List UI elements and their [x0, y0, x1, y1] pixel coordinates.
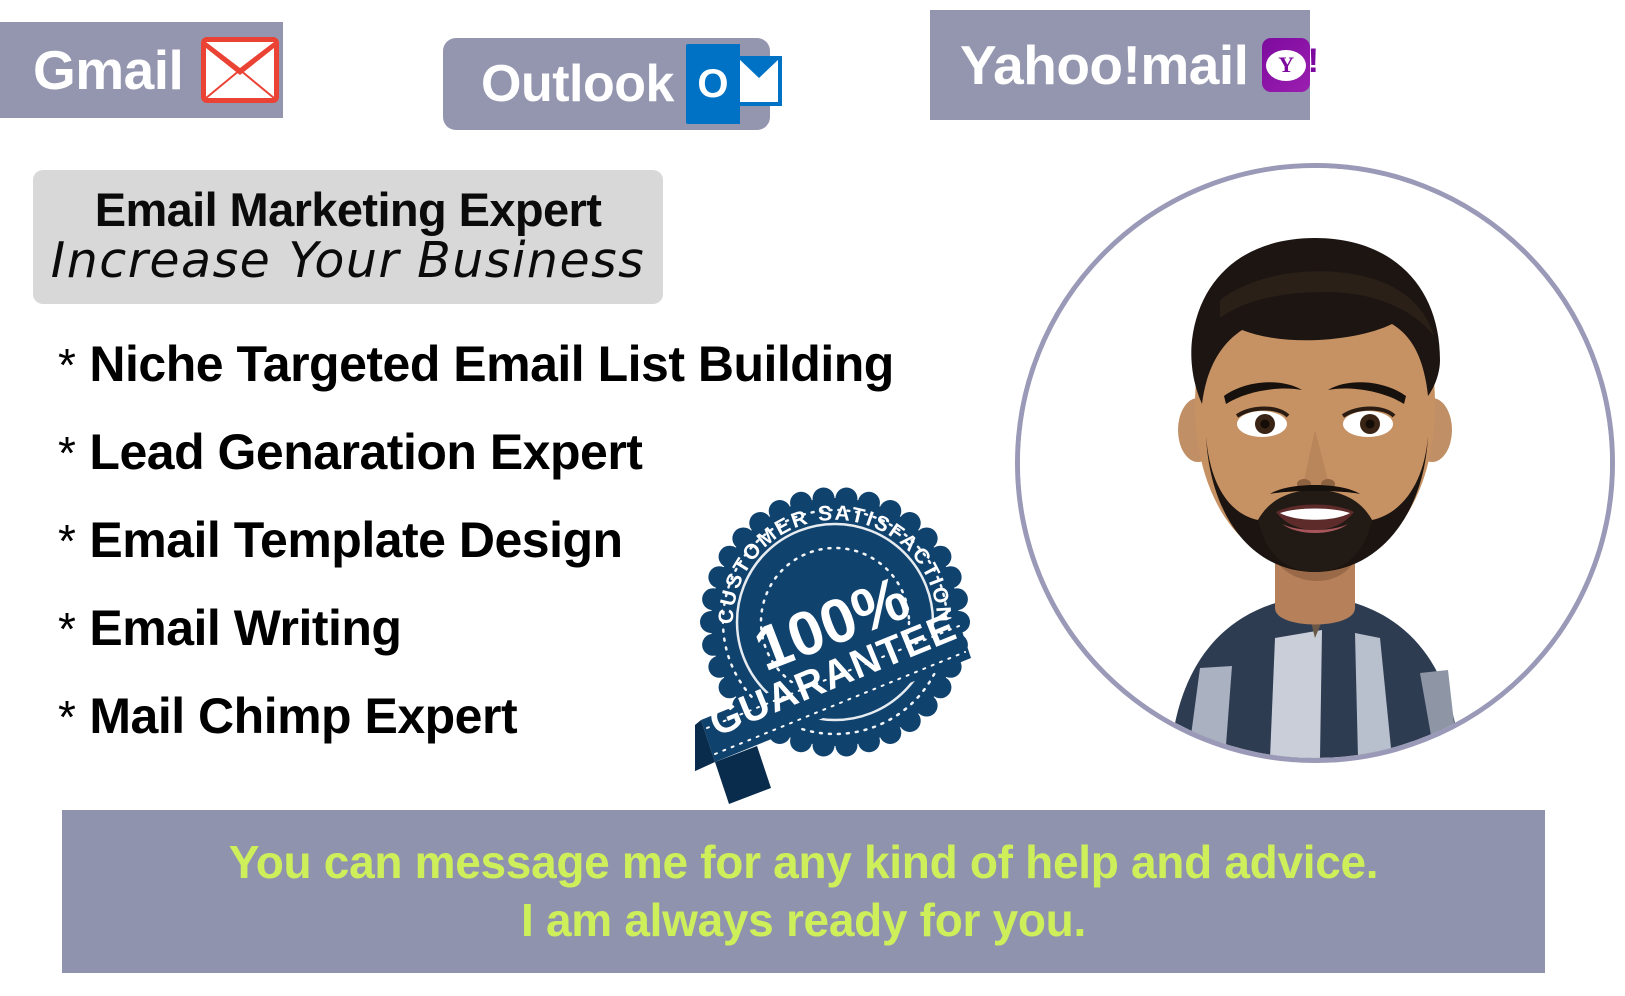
gmail-envelope-icon — [201, 37, 279, 103]
cta-line-1: You can message me for any kind of help … — [229, 834, 1379, 892]
service-label: Email Template Design — [89, 511, 622, 569]
bullet-star-icon: * — [58, 694, 75, 740]
bullet-star-icon: * — [58, 606, 75, 652]
bullet-star-icon: * — [58, 518, 75, 564]
provider-label-outlook: Outlook — [481, 58, 674, 110]
bullet-star-icon: * — [58, 430, 75, 476]
yahoo-logo-letter: Y — [1278, 54, 1294, 76]
provider-badge-yahoo: Yahoo!mail Y ! — [930, 10, 1310, 120]
promo-graphic: Gmail Outlook O Yahoo!mail Y ! Email Mar… — [0, 0, 1625, 996]
cta-banner: You can message me for any kind of help … — [62, 810, 1545, 973]
provider-label-gmail: Gmail — [33, 43, 183, 98]
headline-subtitle: Increase Your Business — [33, 235, 663, 286]
yahoo-y-icon: Y ! — [1262, 38, 1310, 92]
portrait-photo — [1020, 168, 1610, 758]
list-item: * Niche Targeted Email List Building — [58, 335, 958, 423]
guarantee-seal-icon: CUSTOMER SATISFACTION 100% GUARANTEE — [695, 472, 975, 812]
provider-badge-outlook: Outlook O — [443, 38, 770, 130]
headline-title: Email Marketing Expert — [33, 185, 663, 235]
headline-box: Email Marketing Expert Increase Your Bus… — [33, 170, 663, 304]
service-label: Niche Targeted Email List Building — [89, 335, 893, 393]
yahoo-logo-exclamation: ! — [1308, 44, 1319, 78]
outlook-envelope-icon: O — [686, 42, 770, 126]
service-label: Lead Genaration Expert — [89, 423, 642, 481]
service-label: Email Writing — [89, 599, 401, 657]
avatar — [1015, 163, 1615, 763]
provider-badge-gmail: Gmail — [0, 22, 283, 118]
bullet-star-icon: * — [58, 342, 75, 388]
provider-label-yahoo: Yahoo!mail — [960, 38, 1248, 93]
service-label: Mail Chimp Expert — [89, 687, 517, 745]
cta-line-2: I am always ready for you. — [521, 892, 1086, 950]
outlook-logo-letter: O — [686, 64, 740, 104]
